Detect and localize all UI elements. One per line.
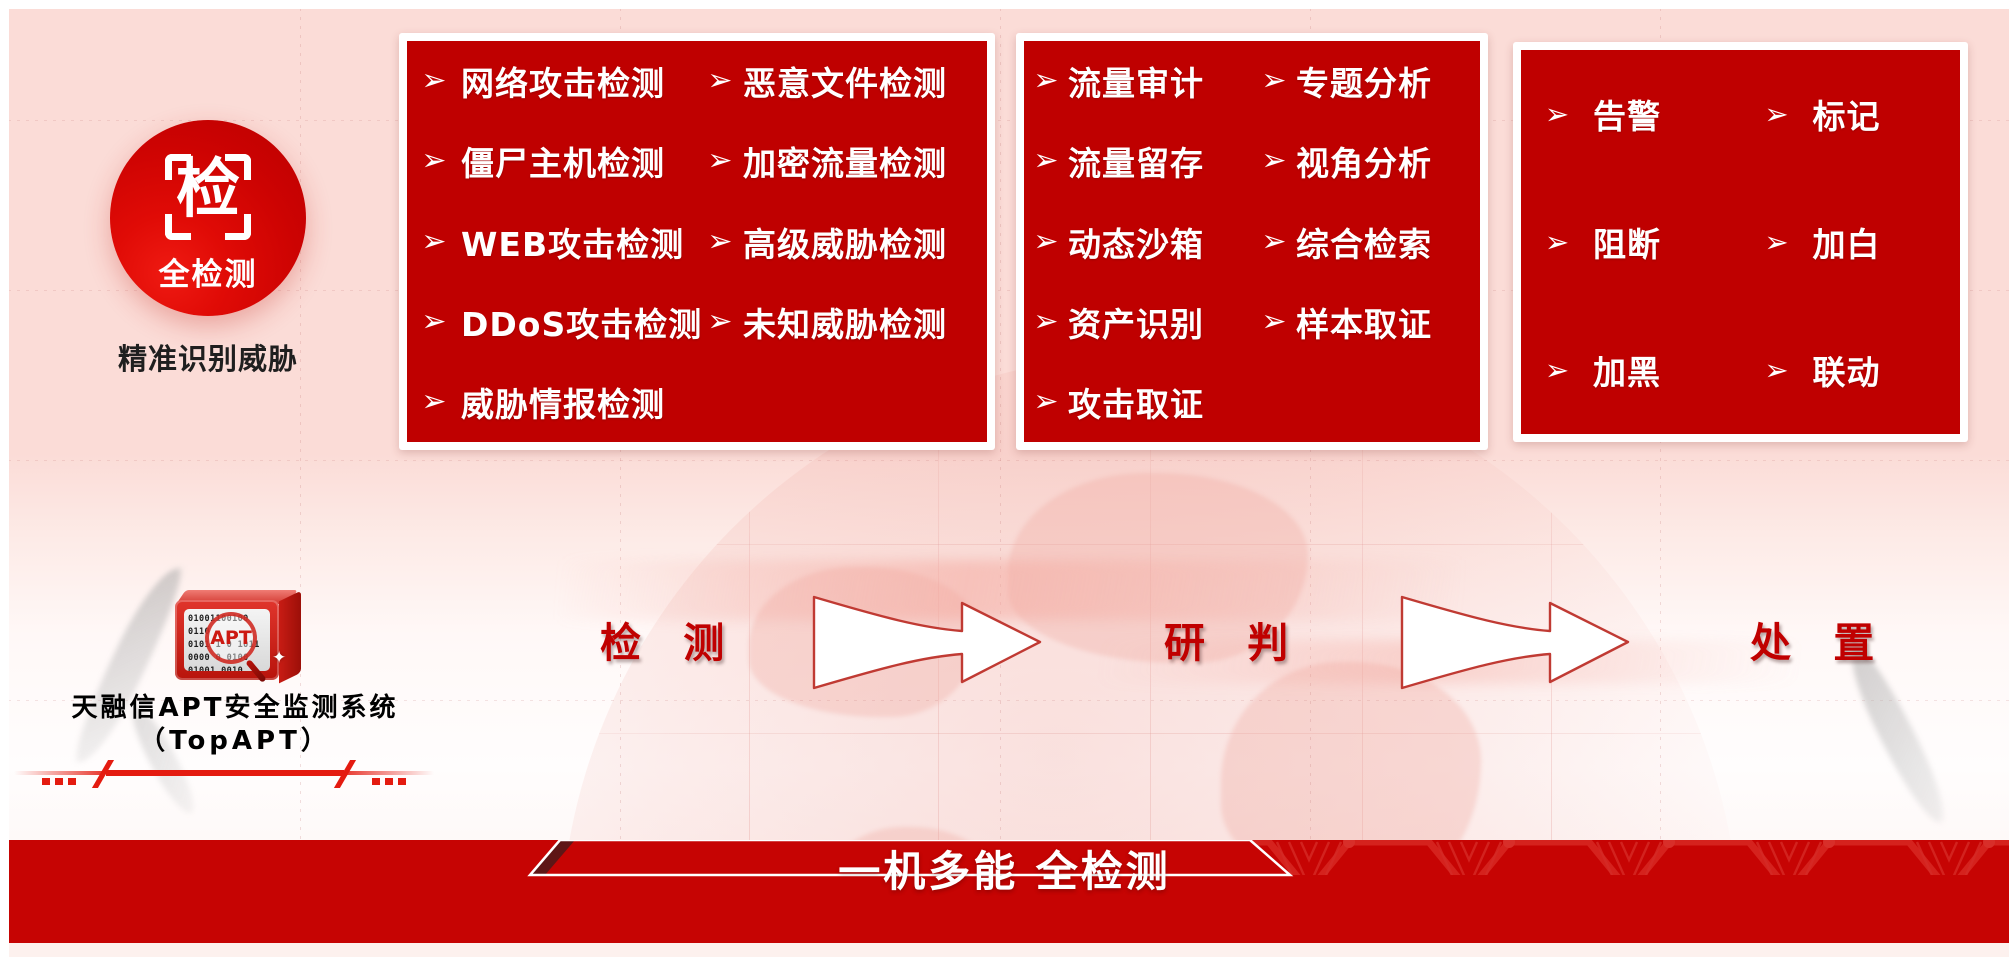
panel-row: ➢ 攻击取证 bbox=[1024, 362, 1480, 442]
feature-item[interactable]: ➢ 僵尸主机检测 bbox=[407, 137, 697, 185]
magnifier-icon: APT bbox=[205, 612, 257, 664]
arrow-bullet-icon: ➢ bbox=[697, 66, 743, 96]
feature-item[interactable]: ➢ 流量审计 bbox=[1024, 57, 1252, 105]
panel-row: ➢ WEB攻击检测 ➢ 高级威胁检测 bbox=[407, 201, 987, 281]
feature-label: 告警 bbox=[1593, 90, 1661, 138]
arrow-bullet-icon: ➢ bbox=[1024, 387, 1068, 417]
panel-row: ➢ 资产识别 ➢ 样本取证 bbox=[1024, 282, 1480, 362]
feature-item[interactable]: ➢ WEB攻击检测 bbox=[407, 218, 697, 266]
panel-row: ➢ 阻断 ➢ 加白 bbox=[1521, 178, 1960, 306]
badge-sub-label: 全检测 bbox=[110, 249, 306, 294]
panel-row: ➢ 网络攻击检测 ➢ 恶意文件检测 bbox=[407, 41, 987, 121]
feature-item[interactable]: ➢ 标记 bbox=[1741, 90, 1961, 138]
feature-item[interactable]: ➢ 恶意文件检测 bbox=[697, 57, 987, 105]
feature-item[interactable]: ➢ 综合检索 bbox=[1252, 218, 1480, 266]
arrow-bullet-icon: ➢ bbox=[407, 227, 461, 257]
feature-label: 视角分析 bbox=[1296, 137, 1432, 185]
cursor-icon: ✦ bbox=[272, 648, 286, 668]
feature-item[interactable]: ➢ 未知威胁检测 bbox=[697, 298, 987, 346]
feature-item[interactable]: ➢ DDoS攻击检测 bbox=[407, 298, 697, 346]
device-name-line2: （TopAPT） bbox=[55, 725, 415, 758]
feature-label: 加白 bbox=[1813, 218, 1881, 266]
slide-canvas: 检 全检测 精准识别威胁 ➢ 网络攻击检测 ➢ 恶意文件检测 ➢ 僵尸主机检测 bbox=[0, 0, 2009, 957]
feature-item[interactable]: ➢ 威胁情报检测 bbox=[407, 378, 697, 426]
feature-label: 僵尸主机检测 bbox=[461, 137, 665, 185]
device-name-line1: 天融信APT安全监测系统 bbox=[55, 692, 415, 725]
feature-item[interactable]: ➢ 高级威胁检测 bbox=[697, 218, 987, 266]
feature-item[interactable]: ➢ 攻击取证 bbox=[1024, 378, 1252, 426]
arrow-bullet-icon: ➢ bbox=[697, 146, 743, 176]
divider-dots-right bbox=[372, 778, 406, 785]
flow-arrow-1-icon bbox=[812, 595, 1042, 690]
arrow-bullet-icon: ➢ bbox=[1252, 227, 1296, 257]
feature-item[interactable]: ➢ 流量留存 bbox=[1024, 137, 1252, 185]
feature-label: 阻断 bbox=[1593, 218, 1661, 266]
feature-label: WEB攻击检测 bbox=[461, 218, 684, 266]
feature-label: 威胁情报检测 bbox=[461, 378, 665, 426]
detection-panel: ➢ 网络攻击检测 ➢ 恶意文件检测 ➢ 僵尸主机检测 ➢ 加密流量检测 bbox=[399, 33, 995, 450]
feature-item[interactable]: ➢ 样本取证 bbox=[1252, 298, 1480, 346]
arrow-bullet-icon: ➢ bbox=[1741, 228, 1813, 257]
feature-item[interactable]: ➢ 视角分析 bbox=[1252, 137, 1480, 185]
arrow-bullet-icon: ➢ bbox=[1741, 356, 1813, 385]
panel-row: ➢ 流量审计 ➢ 专题分析 bbox=[1024, 41, 1480, 121]
feature-item[interactable]: ➢ 资产识别 bbox=[1024, 298, 1252, 346]
response-panel: ➢ 告警 ➢ 标记 ➢ 阻断 ➢ 加白 bbox=[1513, 42, 1968, 442]
arrow-bullet-icon: ➢ bbox=[697, 307, 743, 337]
arrow-bullet-icon: ➢ bbox=[1521, 228, 1593, 257]
feature-label: 加密流量检测 bbox=[743, 137, 947, 185]
feature-item[interactable]: ➢ 阻断 bbox=[1521, 218, 1741, 266]
arrow-bullet-icon: ➢ bbox=[1252, 146, 1296, 176]
feature-label: 恶意文件检测 bbox=[743, 57, 947, 105]
flow-arrow-2-icon bbox=[1400, 595, 1630, 690]
panel-row: ➢ 流量留存 ➢ 视角分析 bbox=[1024, 121, 1480, 201]
divider-dots-left bbox=[42, 778, 76, 785]
feature-label: 联动 bbox=[1813, 346, 1881, 394]
feature-label: 未知威胁检测 bbox=[743, 298, 947, 346]
apt-appliance-icon: 01001100100 0110 0101 1 0 1011 0000 0 01… bbox=[169, 590, 301, 682]
feature-label: 专题分析 bbox=[1296, 57, 1432, 105]
flow-stage-3-label: 处 置 bbox=[1750, 609, 1888, 669]
feature-item[interactable]: ➢ 联动 bbox=[1741, 346, 1961, 394]
badge-scan-char: 检 bbox=[176, 158, 240, 222]
arrow-bullet-icon: ➢ bbox=[407, 307, 461, 337]
feature-item[interactable]: ➢ 告警 bbox=[1521, 90, 1741, 138]
arrow-bullet-icon: ➢ bbox=[1521, 356, 1593, 385]
feature-item[interactable]: ➢ 网络攻击检测 bbox=[407, 57, 697, 105]
decorative-divider bbox=[14, 758, 434, 788]
badge-caption: 精准识别威胁 bbox=[58, 336, 358, 378]
banner-bottom-strip bbox=[0, 943, 2009, 957]
arrow-bullet-icon: ➢ bbox=[1024, 227, 1068, 257]
panel-row: ➢ 僵尸主机检测 ➢ 加密流量检测 bbox=[407, 121, 987, 201]
banner-title: 一机多能 全检测 bbox=[0, 840, 2009, 904]
panel-row: ➢ 告警 ➢ 标记 bbox=[1521, 50, 1960, 178]
feature-item[interactable]: ➢ 加黑 bbox=[1521, 346, 1741, 394]
arrow-bullet-icon: ➢ bbox=[1024, 66, 1068, 96]
feature-label: 资产识别 bbox=[1068, 298, 1204, 346]
feature-label: 流量审计 bbox=[1068, 57, 1204, 105]
apt-device-block: 01001100100 0110 0101 1 0 1011 0000 0 01… bbox=[55, 590, 415, 757]
analysis-panel: ➢ 流量审计 ➢ 专题分析 ➢ 流量留存 ➢ 视角分析 bbox=[1016, 33, 1488, 450]
feature-item[interactable]: ➢ 加密流量检测 bbox=[697, 137, 987, 185]
feature-item[interactable]: ➢ 加白 bbox=[1741, 218, 1961, 266]
arrow-bullet-icon: ➢ bbox=[407, 387, 461, 417]
panel-row: ➢ 威胁情报检测 bbox=[407, 362, 987, 442]
arrow-bullet-icon: ➢ bbox=[407, 146, 461, 176]
feature-item[interactable]: ➢ 专题分析 bbox=[1252, 57, 1480, 105]
magnifier-label: APT bbox=[210, 627, 252, 649]
detection-badge: 检 全检测 精准识别威胁 bbox=[58, 120, 358, 378]
arrow-bullet-icon: ➢ bbox=[407, 66, 461, 96]
feature-label: 标记 bbox=[1813, 90, 1881, 138]
panel-row: ➢ 动态沙箱 ➢ 综合检索 bbox=[1024, 201, 1480, 281]
arrow-bullet-icon: ➢ bbox=[1252, 307, 1296, 337]
arrow-bullet-icon: ➢ bbox=[1024, 307, 1068, 337]
feature-item[interactable]: ➢ 动态沙箱 bbox=[1024, 218, 1252, 266]
flow-stage-1-label: 检 测 bbox=[600, 609, 738, 669]
feature-label: 攻击取证 bbox=[1068, 378, 1204, 426]
panel-row: ➢ DDoS攻击检测 ➢ 未知威胁检测 bbox=[407, 282, 987, 362]
feature-label: 网络攻击检测 bbox=[461, 57, 665, 105]
arrow-bullet-icon: ➢ bbox=[1252, 66, 1296, 96]
feature-label: 流量留存 bbox=[1068, 137, 1204, 185]
feature-label: DDoS攻击检测 bbox=[461, 298, 702, 346]
arrow-bullet-icon: ➢ bbox=[1741, 100, 1813, 129]
panel-row: ➢ 加黑 ➢ 联动 bbox=[1521, 306, 1960, 434]
feature-label: 综合检索 bbox=[1296, 218, 1432, 266]
feature-label: 动态沙箱 bbox=[1068, 218, 1204, 266]
feature-label: 高级威胁检测 bbox=[743, 218, 947, 266]
bottom-banner: 一机多能 全检测 bbox=[0, 840, 2009, 943]
flow-stage-2-label: 研 判 bbox=[1164, 609, 1302, 669]
device-name: 天融信APT安全监测系统 （TopAPT） bbox=[55, 692, 415, 757]
feature-label: 加黑 bbox=[1593, 346, 1661, 394]
badge-circle: 检 全检测 bbox=[110, 120, 306, 316]
arrow-bullet-icon: ➢ bbox=[1024, 146, 1068, 176]
arrow-bullet-icon: ➢ bbox=[1521, 100, 1593, 129]
arrow-bullet-icon: ➢ bbox=[697, 227, 743, 257]
feature-label: 样本取证 bbox=[1296, 298, 1432, 346]
